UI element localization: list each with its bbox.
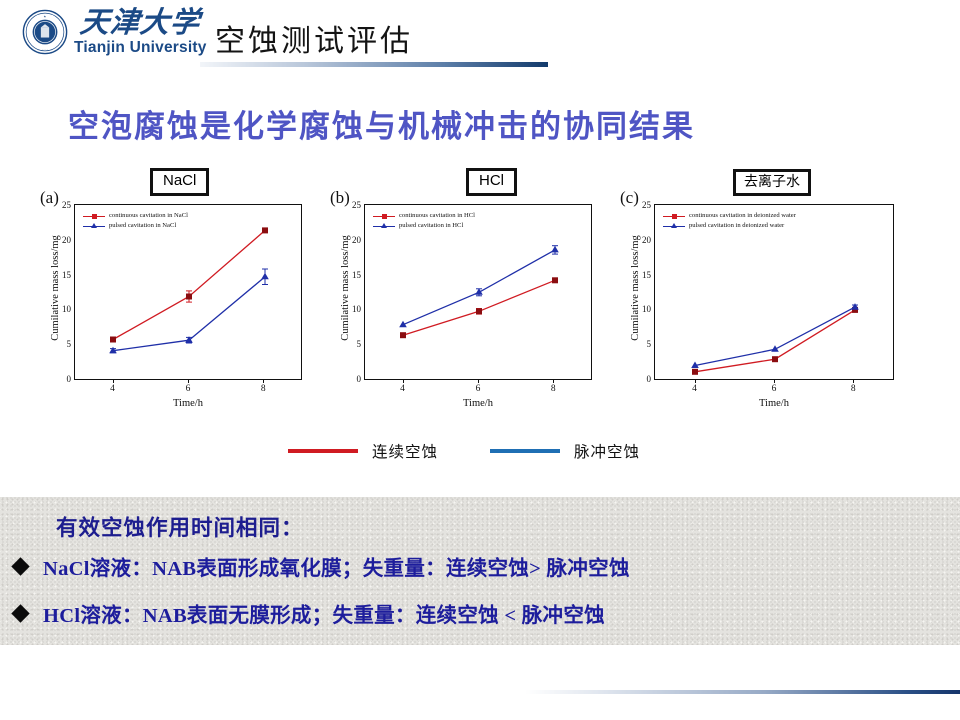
- legend-entry-b-continuous: continuous cavitation in HCl: [373, 211, 475, 221]
- x-axis-label-a: Time/h: [74, 398, 302, 409]
- legend-pulsed-cavitation: 脉冲空蚀: [490, 440, 640, 462]
- legend-marker-red-icon: [663, 213, 685, 220]
- x-tick-b-4: 4: [400, 384, 405, 394]
- x-tick-b-8: 8: [551, 384, 556, 394]
- x-tick-a-4: 4: [110, 384, 115, 394]
- y-tick-b-25: 25: [352, 200, 361, 210]
- y-axis-label-c: Cumilative mass loss/mg: [630, 200, 641, 376]
- conclusion-heading: 有效空蚀作用时间相同：: [56, 511, 304, 542]
- legend-entry-c-continuous: continuous cavitation in deionized water: [663, 211, 796, 221]
- diamond-bullet-icon: [11, 557, 29, 575]
- legend-label-a-pulsed: pulsed cavitation in NaCl: [109, 221, 176, 231]
- x-tick-a-8: 8: [261, 384, 266, 394]
- slide: ★ · · · · 天津大学 Tianjin University 空蚀测试评估…: [0, 0, 960, 720]
- chart-panel-b: (b) Cumilative mass loss/mg 0 5 10 15 20…: [328, 190, 616, 390]
- legend-marker-blue-icon: [83, 223, 105, 230]
- svg-text:· · · ·: · · · ·: [42, 48, 49, 52]
- x-tick-c-4: 4: [692, 384, 697, 394]
- y-tick-c-5: 5: [647, 339, 652, 349]
- y-tick-a-5: 5: [67, 339, 72, 349]
- conclusion-bullet-2: HCl溶液：NAB表面无膜形成；失重量：连续空蚀 < 脉冲空蚀: [14, 598, 605, 628]
- y-tick-b-10: 10: [352, 304, 361, 314]
- page-title: 空泡腐蚀是化学腐蚀与机械冲击的协同结果: [68, 101, 695, 146]
- figure-legend: 连续空蚀 脉冲空蚀: [0, 436, 960, 466]
- footer-divider: [525, 690, 960, 694]
- legend-label-c-continuous: continuous cavitation in deionized water: [689, 211, 796, 221]
- y-tick-a-0: 0: [67, 374, 72, 384]
- chart-panel-a: (a) Cumilative mass loss/mg 0 5 10 15 20…: [38, 190, 326, 390]
- y-tick-c-20: 20: [642, 235, 651, 245]
- y-tick-b-20: 20: [352, 235, 361, 245]
- legend-label-c-pulsed: pulsed cavitation in deionized water: [689, 221, 784, 231]
- header-title: 空蚀测试评估: [215, 16, 413, 60]
- y-tick-c-10: 10: [642, 304, 651, 314]
- svg-text:★: ★: [44, 15, 47, 19]
- legend-pulsed-label: 脉冲空蚀: [574, 440, 640, 462]
- plot-area-c: 0 5 10 15 20 25 4 6 8: [654, 204, 894, 380]
- legend-label-b-continuous: continuous cavitation in HCl: [399, 211, 475, 221]
- legend-line-blue-icon: [490, 449, 560, 453]
- y-tick-b-0: 0: [357, 374, 362, 384]
- legend-label-a-continuous: continuous cavitation in NaCl: [109, 211, 188, 221]
- legend-entry-a-continuous: continuous cavitation in NaCl: [83, 211, 188, 221]
- x-tick-b-6: 6: [476, 384, 481, 394]
- slide-header: ★ · · · · 天津大学 Tianjin University 空蚀测试评估: [0, 0, 960, 80]
- plot-legend-c: continuous cavitation in deionized water…: [663, 211, 796, 231]
- legend-line-red-icon: [288, 449, 358, 453]
- legend-entry-a-pulsed: pulsed cavitation in NaCl: [83, 221, 188, 231]
- y-axis-label-a: Cumilative mass loss/mg: [50, 200, 61, 376]
- x-axis-label-b: Time/h: [364, 398, 592, 409]
- figure-panels: NaCl HCl 去离子水 (a) Cumilative mass loss/m…: [0, 168, 960, 428]
- logo-text: 天津大学 Tianjin University: [74, 9, 207, 56]
- y-tick-a-20: 20: [62, 235, 71, 245]
- university-logo: ★ · · · · 天津大学 Tianjin University: [22, 9, 207, 56]
- conclusion-panel: 有效空蚀作用时间相同： NaCl溶液：NAB表面形成氧化膜；失重量：连续空蚀> …: [0, 497, 960, 645]
- diamond-bullet-icon: [11, 604, 29, 622]
- y-tick-c-0: 0: [647, 374, 652, 384]
- x-tick-a-6: 6: [186, 384, 191, 394]
- plot-legend-b: continuous cavitation in HCl pulsed cavi…: [373, 211, 475, 231]
- chart-panel-c: (c) Cumilative mass loss/mg 0 5 10 15 20…: [618, 190, 918, 390]
- legend-marker-red-icon: [373, 213, 395, 220]
- y-tick-c-15: 15: [642, 270, 651, 280]
- conclusion-bullet-1-text: NaCl溶液：NAB表面形成氧化膜；失重量：连续空蚀> 脉冲空蚀: [43, 551, 630, 581]
- x-tick-c-6: 6: [772, 384, 777, 394]
- x-tick-c-8: 8: [851, 384, 856, 394]
- legend-entry-c-pulsed: pulsed cavitation in deionized water: [663, 221, 796, 231]
- header-divider: [200, 62, 548, 67]
- legend-continuous-cavitation: 连续空蚀: [288, 440, 438, 462]
- conclusion-bullet-1: NaCl溶液：NAB表面形成氧化膜；失重量：连续空蚀> 脉冲空蚀: [14, 551, 630, 581]
- plot-area-a: 0 5 10 15 20 25 4 6 8: [74, 204, 302, 380]
- y-tick-b-15: 15: [352, 270, 361, 280]
- legend-marker-red-icon: [83, 213, 105, 220]
- university-seal-icon: ★ · · · ·: [22, 9, 68, 55]
- plot-area-b: 0 5 10 15 20 25 4 6 8: [364, 204, 592, 380]
- y-tick-a-10: 10: [62, 304, 71, 314]
- legend-continuous-label: 连续空蚀: [372, 440, 438, 462]
- logo-chinese-name: 天津大学: [79, 9, 202, 38]
- legend-label-b-pulsed: pulsed cavitation in HCl: [399, 221, 463, 231]
- legend-entry-b-pulsed: pulsed cavitation in HCl: [373, 221, 475, 231]
- y-tick-c-25: 25: [642, 200, 651, 210]
- y-tick-b-5: 5: [357, 339, 362, 349]
- logo-english-name: Tianjin University: [74, 40, 207, 56]
- y-axis-label-b: Cumilative mass loss/mg: [340, 200, 351, 376]
- plot-legend-a: continuous cavitation in NaCl pulsed cav…: [83, 211, 188, 231]
- legend-marker-blue-icon: [373, 223, 395, 230]
- legend-marker-blue-icon: [663, 223, 685, 230]
- conclusion-bullet-2-text: HCl溶液：NAB表面无膜形成；失重量：连续空蚀 < 脉冲空蚀: [43, 598, 605, 628]
- x-axis-label-c: Time/h: [654, 398, 894, 409]
- y-tick-a-25: 25: [62, 200, 71, 210]
- y-tick-a-15: 15: [62, 270, 71, 280]
